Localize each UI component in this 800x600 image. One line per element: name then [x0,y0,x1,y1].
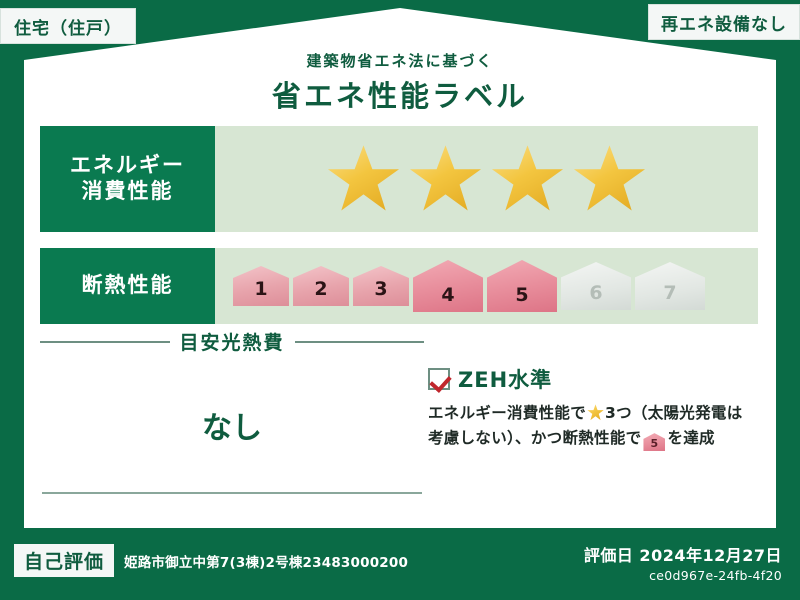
zeh-desc-part4: を達成 [667,429,714,447]
energy-label-line1: エネルギー [70,153,185,177]
heading-rule-right [295,341,425,343]
renewable-equipment-badge: 再エネ設備なし [648,4,800,40]
star-icon [327,144,401,214]
utility-cost-heading-text: 目安光熱費 [180,328,285,355]
utility-cost-heading: 目安光熱費 [40,328,424,355]
energy-label-line2: 消費性能 [82,179,174,203]
star-icon [587,404,604,421]
insulation-level-scale: 1234567 [215,248,758,324]
document-id: ce0d967e-24fb-4f20 [584,568,782,583]
house-level-icon: 5 [643,433,665,451]
zeh-label: ZEH水準 [458,364,552,394]
insulation-level-5: 5 [487,260,557,312]
insulation-level-2: 2 [293,266,349,306]
footer-left-group: 自己評価 姫路市御立中第7(3棟)2号棟23483000200 [14,544,408,577]
insulation-level-4: 4 [413,260,483,312]
energy-performance-label: エネルギー 消費性能 [40,126,215,232]
zeh-section: ZEH水準 エネルギー消費性能で3つ（太陽光発電は考慮しない）、かつ断熱性能で5… [428,364,758,451]
utility-cost-value: なし [40,403,424,447]
insulation-performance-row: 断熱性能 1234567 [40,248,758,324]
insulation-level-1: 1 [233,266,289,306]
star-rating-panel [215,126,758,232]
insulation-level-7: 7 [635,262,705,310]
self-evaluation-badge: 自己評価 [14,544,114,577]
star-icon [491,144,565,214]
zeh-desc-part2: 3つ（太陽光発電 [605,404,727,422]
energy-performance-row: エネルギー 消費性能 [40,126,758,232]
property-address: 姫路市御立中第7(3棟)2号棟23483000200 [124,551,408,571]
evaluation-date: 評価日 2024年12月27日 [584,542,782,566]
label-footer: 自己評価 姫路市御立中第7(3棟)2号棟23483000200 評価日 2024… [0,534,800,600]
page-title: 建築物省エネ法に基づく 省エネ性能ラベル [0,50,800,115]
utility-cost-bottom-rule [42,492,422,494]
star-icon [573,144,647,214]
lower-section: 目安光熱費 なし ZEH水準 エネルギー消費性能で3つ（太陽光発電は考慮しない）… [0,328,800,528]
title-subtitle: 建築物省エネ法に基づく [0,50,800,71]
star-icon [409,144,483,214]
footer-right-group: 評価日 2024年12月27日 ce0d967e-24fb-4f20 [584,542,782,583]
check-icon [428,368,450,390]
zeh-desc-part1: エネルギー消費性能で [428,404,586,422]
building-type-badge: 住宅（住戸） [0,8,136,44]
zeh-title-row: ZEH水準 [428,364,758,394]
zeh-description: エネルギー消費性能で3つ（太陽光発電は考慮しない）、かつ断熱性能で5を達成 [428,401,758,451]
insulation-performance-label: 断熱性能 [40,248,215,324]
insulation-level-3: 3 [353,266,409,306]
energy-performance-label: 住宅（住戸） 再エネ設備なし 建築物省エネ法に基づく 省エネ性能ラベル エネルギ… [0,0,800,600]
heading-rule-left [40,341,170,343]
utility-cost-section: 目安光熱費 なし [40,328,424,447]
insulation-level-6: 6 [561,262,631,310]
title-main: 省エネ性能ラベル [0,73,800,115]
